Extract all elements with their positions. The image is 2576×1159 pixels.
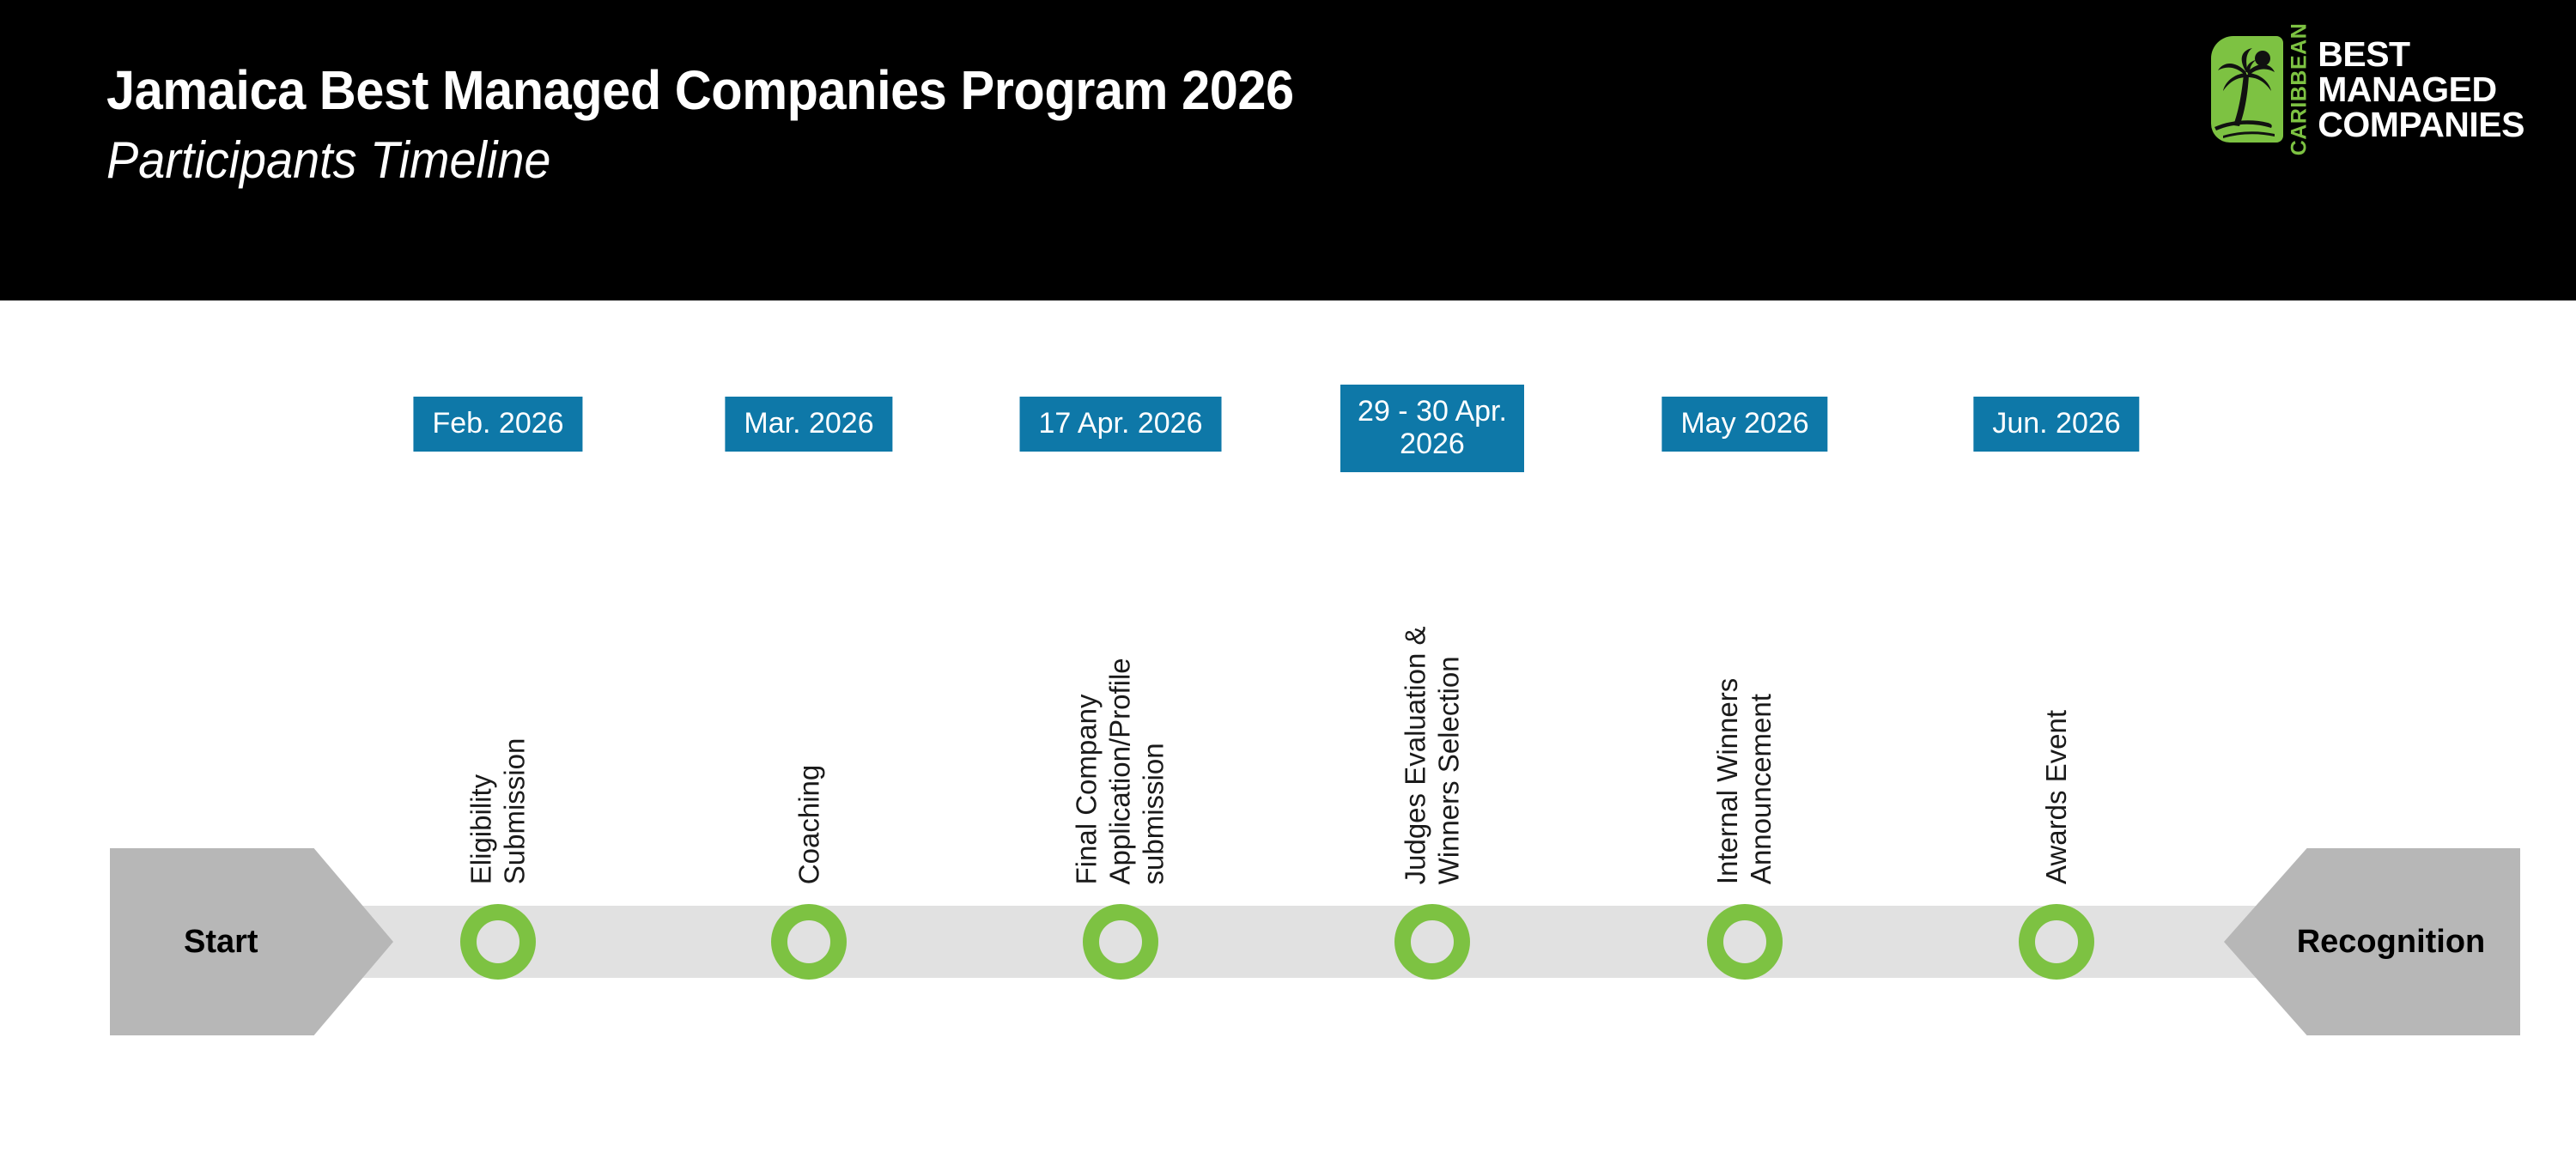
bmc-logo: CARIBBEAN BEST MANAGED COMPANIES — [2211, 36, 2524, 143]
logo-line-managed: MANAGED — [2318, 72, 2524, 107]
milestone-node[interactable] — [460, 904, 536, 980]
start-label: Start — [184, 924, 258, 961]
logo-caribbean-text: CARIBBEAN — [2283, 36, 2316, 143]
milestone-date-chip[interactable]: Jun. 2026 — [1973, 397, 2139, 452]
page-subtitle: Participants Timeline — [106, 133, 1294, 187]
milestone-date-chip[interactable]: May 2026 — [1662, 397, 1827, 452]
milestone-date-chip[interactable]: Feb. 2026 — [413, 397, 582, 452]
milestone-node[interactable] — [771, 904, 847, 980]
header-bar: Jamaica Best Managed Companies Program 2… — [0, 0, 2576, 300]
milestone-node[interactable] — [1707, 904, 1783, 980]
milestone-node[interactable] — [2019, 904, 2094, 980]
milestone-label: Judges Evaluation & Winners Selection — [1399, 626, 1466, 884]
milestone-date-chip[interactable]: 29 - 30 Apr. 2026 — [1340, 385, 1524, 472]
logo-line-companies: COMPANIES — [2318, 107, 2524, 143]
timeline-track — [309, 906, 2284, 978]
milestone-label: Final Company Application/Profile submis… — [1071, 658, 1171, 884]
title-block: Jamaica Best Managed Companies Program 2… — [106, 62, 1383, 187]
milestone-label: Internal Winners Announcement — [1711, 678, 1778, 884]
milestone-node[interactable] — [1394, 904, 1470, 980]
page-title: Jamaica Best Managed Companies Program 2… — [106, 62, 1294, 119]
palm-tree-icon — [2211, 36, 2283, 143]
logo-line-best: BEST — [2318, 37, 2524, 72]
logo-wordmark: BEST MANAGED COMPANIES — [2318, 36, 2524, 143]
recognition-label: Recognition — [2297, 924, 2486, 961]
milestone-label: Eligibility Submission — [465, 737, 532, 884]
milestone-label: Coaching — [793, 765, 826, 884]
milestone-label: Awards Event — [2040, 710, 2074, 884]
milestone-node[interactable] — [1083, 904, 1158, 980]
timeline-canvas — [0, 300, 2576, 1159]
milestone-date-chip[interactable]: Mar. 2026 — [725, 397, 892, 452]
milestone-date-chip[interactable]: 17 Apr. 2026 — [1020, 397, 1222, 452]
logo-caribbean-label: CARIBBEAN — [2287, 23, 2312, 156]
